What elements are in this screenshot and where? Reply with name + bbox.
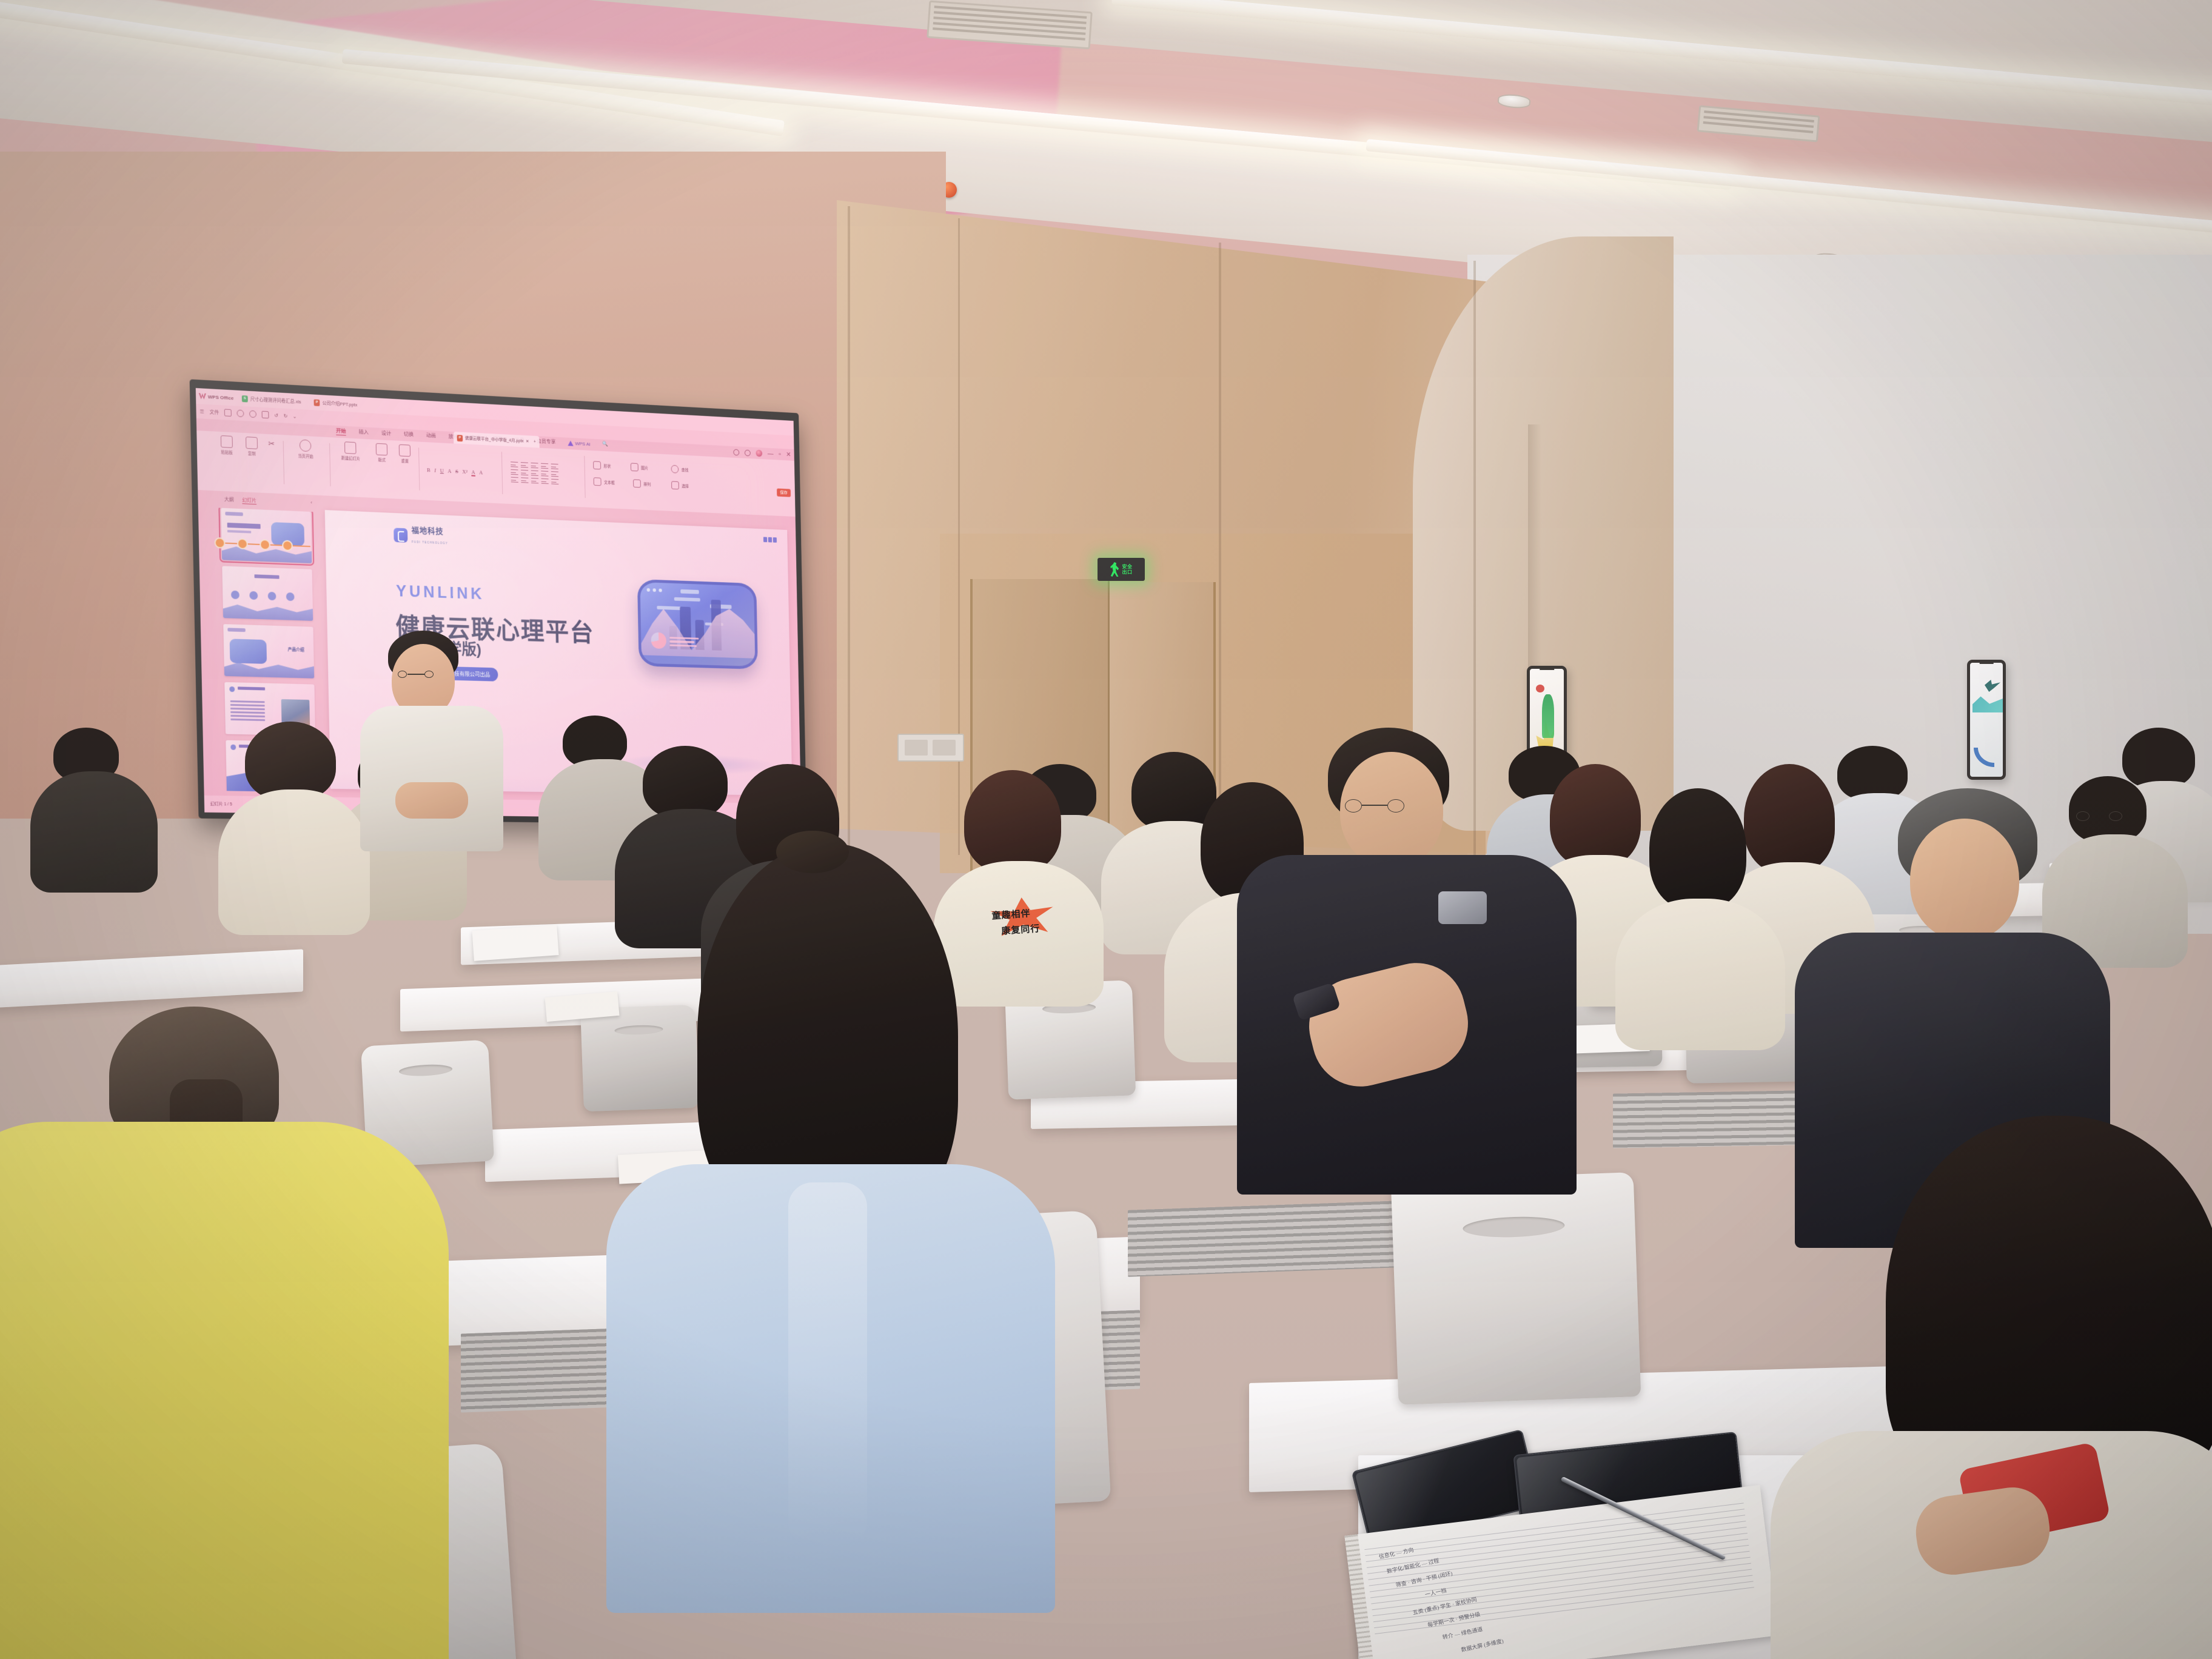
timeline-node[interactable] xyxy=(282,540,293,551)
timeline-node[interactable] xyxy=(260,539,270,551)
minimize-button[interactable]: — xyxy=(768,451,774,457)
group-arrange[interactable]: 排列 xyxy=(633,479,651,488)
group-label: 重置 xyxy=(401,457,409,463)
ppt-icon: P xyxy=(457,435,463,441)
group-label: 形状 xyxy=(603,463,611,469)
file-menu[interactable]: 文件 xyxy=(209,409,219,416)
group-layout[interactable]: 版式 xyxy=(376,443,388,463)
italic-button[interactable]: I xyxy=(434,468,436,475)
group-label: 排列 xyxy=(643,481,651,487)
presenter xyxy=(364,631,503,843)
close-icon[interactable]: ✕ xyxy=(526,439,529,444)
document-tab-2[interactable]: P 公司介绍PPT.pptx xyxy=(309,395,362,411)
running-man-icon xyxy=(1110,562,1121,577)
comment-icon[interactable] xyxy=(733,449,739,455)
tab-outline[interactable]: 大纲 xyxy=(224,496,234,504)
align-left-icon[interactable] xyxy=(511,469,518,475)
convert-icon[interactable] xyxy=(541,478,549,484)
classroom-photo-scene: 安全 出口 WPS Office S 尺寸心理测评问卷汇总.xls xyxy=(0,0,2212,1659)
wps-ai-label: WPS AI xyxy=(575,441,590,447)
thumb-heading xyxy=(255,574,280,578)
ai-sparkle-icon xyxy=(568,440,573,446)
group-shape[interactable]: 形状 xyxy=(593,461,611,470)
thumb-title xyxy=(227,523,261,529)
align-right-icon[interactable] xyxy=(531,471,538,476)
align-center-icon[interactable] xyxy=(521,470,528,475)
paste-icon xyxy=(221,435,233,448)
slide-corner-badge xyxy=(763,537,777,542)
timeline-node[interactable] xyxy=(237,538,248,550)
scissors-icon: ✂ xyxy=(268,439,275,449)
picture-icon xyxy=(631,463,638,471)
slide-thumbnail[interactable]: 1 xyxy=(221,508,312,563)
brand-logo: 福地科技 FUDI TECHNOLOGY xyxy=(394,525,448,548)
text-effects-button[interactable]: A xyxy=(447,468,451,475)
shape-icon xyxy=(593,461,601,469)
tshirt-text-line1: 童趣相伴 xyxy=(991,907,1031,922)
highlight-button[interactable]: A xyxy=(479,469,483,477)
wps-w-icon xyxy=(199,393,206,400)
document-tab-label: 公司介绍PPT.pptx xyxy=(322,400,357,408)
wall-switch[interactable] xyxy=(933,740,956,756)
document-tab-1[interactable]: S 尺寸心理测评问卷汇总.xls xyxy=(237,392,306,409)
wps-ai-button[interactable]: WPS AI xyxy=(568,439,590,448)
group-select[interactable]: 选择 xyxy=(671,481,689,490)
save-button[interactable]: 保存 xyxy=(777,488,791,497)
art-motif-blue-wave xyxy=(1974,748,1994,767)
thumb-wave xyxy=(224,660,314,679)
group-label: 图片 xyxy=(641,464,648,471)
save-icon[interactable] xyxy=(224,409,232,417)
tab-design[interactable]: 设计 xyxy=(381,429,391,438)
wall-seam xyxy=(1473,261,1476,855)
layout-icon xyxy=(376,443,387,456)
group-play-current[interactable]: 当页开始 xyxy=(298,439,313,459)
strikethrough-button[interactable]: S xyxy=(455,468,458,475)
cut-button[interactable]: ✂ xyxy=(268,439,275,449)
decrease-indent-icon[interactable] xyxy=(531,463,538,468)
slide-eyebrow: YUNLINK xyxy=(396,582,485,603)
cloud-sync-icon[interactable] xyxy=(237,409,244,417)
group-label: 选择 xyxy=(682,483,689,489)
shirt-placket xyxy=(788,1182,867,1546)
group-label: 新建幻灯片 xyxy=(341,455,360,461)
group-copy[interactable]: 复制 xyxy=(246,437,258,457)
glasses-icon xyxy=(2076,811,2134,821)
thumb-subtitle xyxy=(227,530,251,534)
increase-indent-icon[interactable] xyxy=(541,463,548,469)
sheet-icon: S xyxy=(242,395,248,402)
tshirt-text-line2: 康复同行 xyxy=(1001,922,1041,937)
justify-icon[interactable] xyxy=(541,471,548,476)
document-tab-label: 健康云联平台_中小学版_4月.pptx xyxy=(465,435,524,444)
collapse-panel-icon[interactable]: ‹ xyxy=(310,500,312,507)
tab-transitions[interactable]: 切换 xyxy=(404,431,414,440)
wps-app-name: WPS Office xyxy=(208,394,234,401)
group-label: 查找 xyxy=(682,466,689,472)
tab-home[interactable]: 开始 xyxy=(336,427,346,436)
brand-name-cn: 福地科技 xyxy=(411,526,443,536)
arrange-icon xyxy=(633,479,641,488)
slide-thumbnail[interactable]: 2 xyxy=(222,566,313,621)
thumb-heading xyxy=(238,686,265,690)
slide-thumbnail[interactable]: 3 产品介绍 xyxy=(223,624,314,679)
numbering-icon[interactable] xyxy=(521,462,528,468)
play-icon xyxy=(300,439,312,452)
font-format-row: B I U A S X² A A xyxy=(427,467,483,477)
tab-animations[interactable]: 动画 xyxy=(426,432,436,441)
art-motif-bird xyxy=(1985,680,2000,692)
glasses-icon xyxy=(398,671,450,679)
art-motif-teal xyxy=(1972,692,2004,712)
new-slide-icon xyxy=(344,441,357,454)
wps-logo: WPS Office xyxy=(199,393,233,401)
wall-seam xyxy=(1219,243,1221,861)
line-spacing-icon[interactable] xyxy=(551,464,558,469)
shoulder-badge xyxy=(1438,891,1487,924)
thumb-body-lines xyxy=(230,700,266,723)
underline-button[interactable]: U xyxy=(440,468,444,475)
group-label: 当页开始 xyxy=(298,452,313,459)
text-direction-icon[interactable] xyxy=(511,477,518,483)
slide-indicator: 幻灯片 1 / 5 xyxy=(210,801,232,807)
share-icon[interactable] xyxy=(745,449,751,456)
thumb-bullet xyxy=(229,686,235,692)
thumb-logo xyxy=(227,628,246,632)
superscript-button[interactable]: X² xyxy=(462,469,468,476)
slide-illustration-monitor xyxy=(637,579,758,669)
group-picture[interactable]: 图片 xyxy=(631,463,648,472)
exit-sign-label: 安全 出口 xyxy=(1122,564,1133,575)
bullets-icon[interactable] xyxy=(511,461,518,467)
group-paste[interactable]: 粘贴板 xyxy=(221,435,233,455)
monitor-dots xyxy=(647,588,662,592)
group-find[interactable]: 查找 xyxy=(671,465,689,474)
fudi-logo-icon xyxy=(394,528,407,542)
thumb-caption: 产品介绍 xyxy=(288,646,304,653)
tab-insert[interactable]: 插入 xyxy=(358,428,369,437)
monitor-legend-lines xyxy=(669,637,700,649)
emergency-exit-sign: 安全 出口 xyxy=(1098,558,1145,581)
thumb-wave xyxy=(223,602,313,621)
paragraph-settings-icon[interactable] xyxy=(551,479,558,484)
window-controls-area: — ▫ ✕ xyxy=(733,449,791,458)
thumb-bullet xyxy=(230,745,236,750)
print-icon[interactable] xyxy=(249,411,256,418)
brand-name-en: FUDI TECHNOLOGY xyxy=(412,540,448,545)
group-label: 文本框 xyxy=(604,479,615,485)
thumb-logo xyxy=(225,512,243,516)
new-tab-button[interactable]: + xyxy=(534,440,536,444)
undo-icon[interactable]: ↺ xyxy=(274,412,278,418)
paragraph-alignment-grid xyxy=(511,461,558,484)
columns-icon[interactable] xyxy=(521,477,528,483)
hair-tie xyxy=(776,831,849,873)
avatar[interactable] xyxy=(756,450,762,457)
group-label: 粘贴板 xyxy=(221,449,233,455)
desk xyxy=(0,949,303,1009)
print-preview-icon[interactable] xyxy=(262,411,269,419)
chair xyxy=(580,1005,699,1112)
bold-button[interactable]: B xyxy=(427,467,431,474)
glasses-icon xyxy=(1345,799,1430,813)
thumb-monitor xyxy=(230,638,267,664)
tab-member[interactable]: 会员专享 xyxy=(537,437,556,446)
group-reset[interactable]: 重置 xyxy=(399,444,411,464)
art-motif-red xyxy=(1536,685,1544,692)
wall-switch[interactable] xyxy=(905,740,928,756)
group-label: 版式 xyxy=(378,457,386,463)
maximize-button[interactable]: ▫ xyxy=(779,451,781,457)
hamburger-icon[interactable]: ☰ xyxy=(199,409,204,414)
wall-art-right xyxy=(1967,660,2006,780)
paper-sheet xyxy=(472,925,558,961)
timeline-node[interactable] xyxy=(214,537,225,549)
art-hanger xyxy=(1540,666,1554,670)
reset-icon xyxy=(399,444,411,457)
wall-seam xyxy=(848,206,850,849)
ppt-icon: P xyxy=(314,399,320,406)
group-label: 复制 xyxy=(248,450,256,457)
thumb-feature-chips xyxy=(231,591,295,601)
select-icon xyxy=(671,481,679,489)
redo-icon[interactable]: ↻ xyxy=(283,413,287,418)
document-tab-label: 尺寸心理测评问卷汇总.xls xyxy=(250,395,301,404)
search-icon[interactable]: 🔍 xyxy=(603,441,609,449)
tab-slides[interactable]: 幻灯片 xyxy=(242,497,256,504)
textbox-icon xyxy=(594,477,602,486)
group-new-slide[interactable]: 新建幻灯片 xyxy=(341,441,360,461)
close-button[interactable]: ✕ xyxy=(786,452,791,458)
find-icon xyxy=(671,465,679,474)
group-textbox[interactable]: 文本框 xyxy=(594,477,615,486)
chevron-down-icon[interactable]: ⌄ xyxy=(293,414,297,419)
slide-panel-tabs: 大纲 幻灯片 ‹ xyxy=(224,496,312,507)
art-hanger xyxy=(1980,660,1994,664)
monitor-pie-chart xyxy=(651,632,666,649)
chair xyxy=(1391,1172,1641,1405)
copy-icon xyxy=(246,437,258,449)
font-color-button[interactable]: A xyxy=(471,469,475,477)
art-motif-green xyxy=(1542,694,1554,738)
smartart-icon[interactable] xyxy=(531,478,538,483)
tshirt-graphic: 童趣相伴 康复同行 xyxy=(988,895,1057,941)
presenter-hands xyxy=(395,782,468,819)
distribute-icon[interactable] xyxy=(551,471,558,477)
